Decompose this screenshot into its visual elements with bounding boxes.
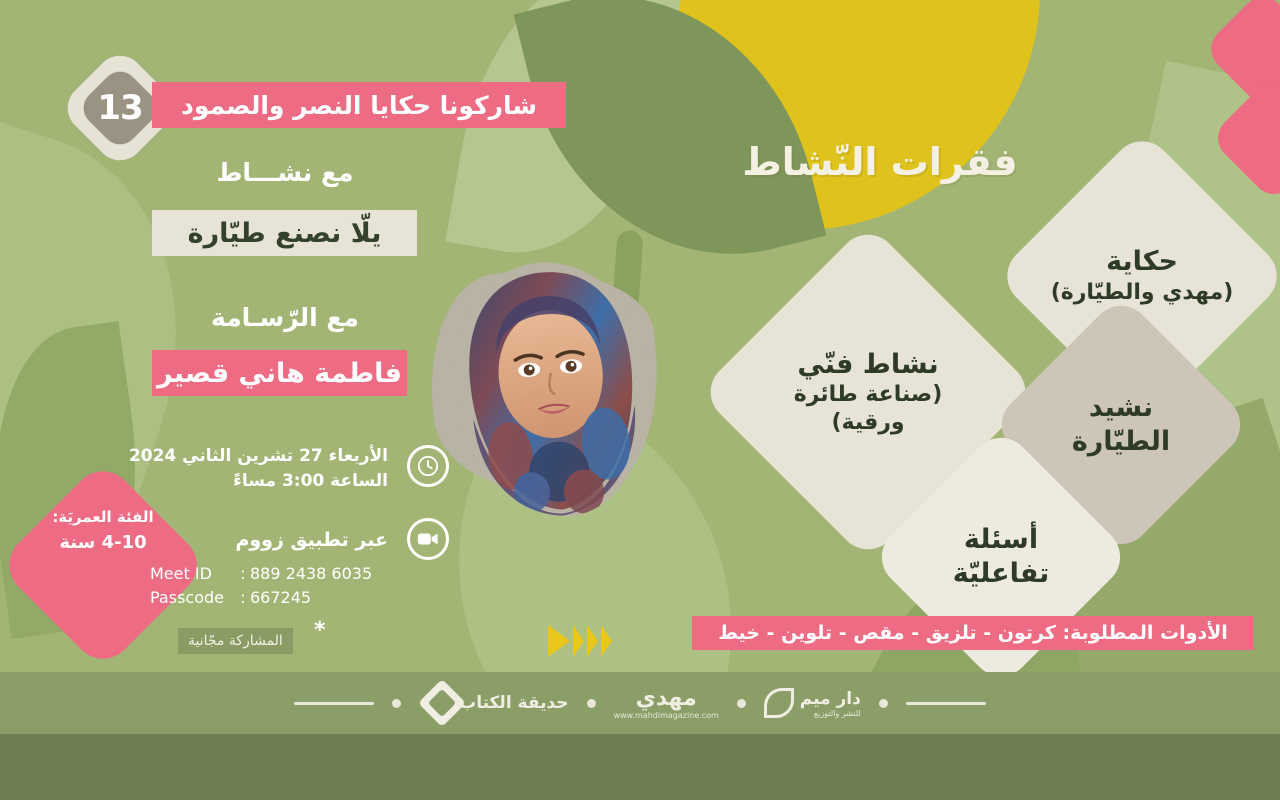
- hadiqat-alkitab-diamond-icon: [418, 679, 466, 727]
- clock-icon: [407, 445, 449, 487]
- chevron-icon-1: [601, 625, 612, 657]
- clock-glyph: [417, 455, 439, 477]
- chevron-icon-3: [573, 625, 584, 657]
- footer-dot-4: [392, 699, 401, 708]
- footer-dot-3: [587, 699, 596, 708]
- zoom-credentials: Meet ID : 889 2438 6035 Passcode : 66724…: [150, 562, 400, 610]
- passcode-label: Passcode: [150, 586, 236, 610]
- age-group-label: الفئة العمريَة:: [40, 505, 166, 529]
- chevron-icon-2: [587, 625, 598, 657]
- dar-meem-leaf-icon: [764, 688, 794, 718]
- meet-id-row: Meet ID : 889 2438 6035: [150, 562, 400, 586]
- footer-rule-left: [906, 702, 986, 705]
- age-group-value: 4-10 سنة: [40, 529, 166, 558]
- footer-logo-bar: دار ميم للنشر والتوزيع مهدي www.mahdimag…: [0, 672, 1280, 734]
- asterisk-mark: *: [314, 618, 326, 643]
- artist-name-chip: فاطمة هاني قصير: [152, 350, 407, 396]
- card-subtitle: (صناعة طائرة ورقية): [756, 381, 980, 436]
- card-text: نشاط فنّي (صناعة طائرة ورقية): [748, 348, 988, 437]
- footer-rule-right: [294, 702, 374, 705]
- logo-mahdi-sub: www.mahdimagazine.com: [614, 711, 719, 720]
- with-activity-label: مع نشـــاط: [70, 158, 500, 187]
- card-subtitle: (مهدي والطيّارة): [1051, 279, 1234, 307]
- logo-mahdi-name: مهدي: [614, 686, 719, 711]
- required-tools-bar: الأدوات المطلوبة: كرتون - تلزيق - مقص - …: [692, 616, 1254, 650]
- meet-id-label: Meet ID: [150, 562, 236, 586]
- logo-hadiqat-alkitab-name: حديقة الكتاب: [459, 693, 568, 713]
- video-camera-icon: [407, 518, 449, 560]
- card-text: حكاية (مهدي والطيّارة): [1043, 245, 1242, 306]
- logo-dar-meem-name: دار ميم: [800, 689, 861, 709]
- footer-dot-2: [737, 699, 746, 708]
- logo-dar-meem-sub: للنشر والتوزيع: [800, 709, 861, 718]
- poster-canvas: 13 شاركونا حكايا النصر والصمود مع نشـــا…: [0, 0, 1280, 800]
- free-participation-note: المشاركة مجّانية: [178, 628, 293, 654]
- logo-mahdi: مهدي www.mahdimagazine.com: [614, 686, 719, 720]
- chevron-arrows-icon: [548, 625, 612, 657]
- card-title: نشيد: [1072, 391, 1170, 425]
- card-title: نشاط فنّي: [756, 348, 980, 382]
- logo-dar-meem: دار ميم للنشر والتوزيع: [764, 688, 861, 718]
- card-title: حكاية: [1051, 245, 1234, 279]
- age-group-badge: الفئة العمريَة: 4-10 سنة: [40, 505, 166, 558]
- event-date: الأربعاء 27 تشرين الثاني 2024: [120, 444, 388, 469]
- card-subtitle: الطيّارة: [1072, 425, 1170, 459]
- episode-number-badge: 13: [76, 64, 164, 152]
- episode-number-text: 13: [76, 64, 164, 152]
- card-text: نشيد الطيّارة: [1064, 391, 1178, 459]
- meet-id-colon: :: [236, 562, 250, 586]
- logo-hadiqat-alkitab: حديقة الكتاب: [419, 686, 568, 720]
- footer-dot-1: [879, 699, 888, 708]
- video-camera-glyph: [417, 531, 439, 547]
- activity-name-chip: يلّا نصنع طيّارة: [152, 210, 417, 256]
- passcode-colon: :: [236, 586, 250, 610]
- with-artist-label: مع الرّسـامة: [70, 303, 500, 332]
- event-time: الساعة 3:00 مساءً: [120, 469, 388, 494]
- footer-bottom-band: [0, 734, 1280, 800]
- card-title: أسئلة: [953, 523, 1050, 557]
- meet-id-value: 889 2438 6035: [250, 562, 372, 586]
- program-title: فقرات النّشاط: [730, 140, 1030, 184]
- chevron-icon-4: [548, 625, 570, 657]
- passcode-row: Passcode : 667245: [150, 586, 400, 610]
- card-text: أسئلة تفاعليّة: [945, 523, 1058, 591]
- passcode-value: 667245: [250, 586, 311, 610]
- card-subtitle: تفاعليّة: [953, 557, 1050, 591]
- date-time-block: الأربعاء 27 تشرين الثاني 2024 الساعة 3:0…: [120, 444, 388, 493]
- ribbon-headline: شاركونا حكايا النصر والصمود: [152, 82, 566, 128]
